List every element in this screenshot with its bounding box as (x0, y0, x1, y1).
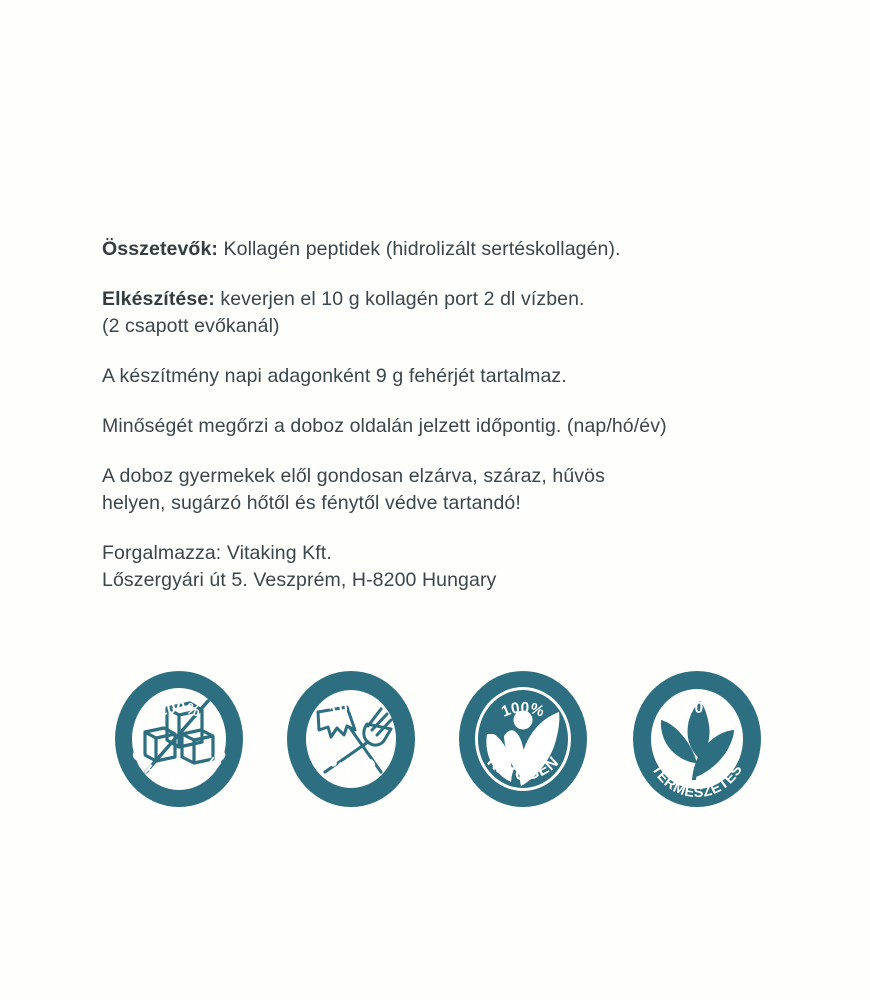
paragraph-ingredients: Összetevők: Kollagén peptidek (hidrolizá… (102, 236, 782, 263)
preparation-lead: Elkészítése: (102, 288, 215, 310)
distributor-body: Forgalmazza: Vitaking Kft. Lőszergyári ú… (102, 542, 496, 591)
label-text-block: Összetevők: Kollagén peptidek (hidrolizá… (102, 236, 782, 617)
certification-badges: 100% CUKORMENTES (112, 668, 772, 818)
storage-body: A doboz gyermekek elől gondosan elzárva,… (102, 465, 605, 514)
ingredients-body: Kollagén peptidek (hidrolizált sertéskol… (218, 238, 621, 260)
ingredients-lead: Összetevők: (102, 238, 218, 260)
paragraph-preparation: Elkészítése: keverjen el 10 g kollagén p… (102, 286, 782, 340)
paragraph-distributor: Forgalmazza: Vitaking Kft. Lőszergyári ú… (102, 540, 782, 594)
product-label-panel: Összetevők: Kollagén peptidek (hidrolizá… (0, 0, 870, 1000)
badge-cukormentes: 100% CUKORMENTES (112, 668, 246, 810)
paragraph-storage: A doboz gyermekek elől gondosan elzárva,… (102, 463, 782, 517)
protein-content-body: A készítmény napi adagonként 9 g fehérjé… (102, 365, 567, 387)
paragraph-best-before: Minőségét megőrzi a doboz oldalán jelzet… (102, 413, 782, 440)
badge-paleo: 100% PALEO (284, 668, 418, 810)
badge-termeszetes: 100% TERMÉSZETES (630, 668, 764, 810)
best-before-body: Minőségét megőrzi a doboz oldalán jelzet… (102, 415, 667, 437)
badge-ketogen: 100% KETOGÉN (456, 668, 590, 810)
paragraph-protein-content: A készítmény napi adagonként 9 g fehérjé… (102, 363, 782, 390)
